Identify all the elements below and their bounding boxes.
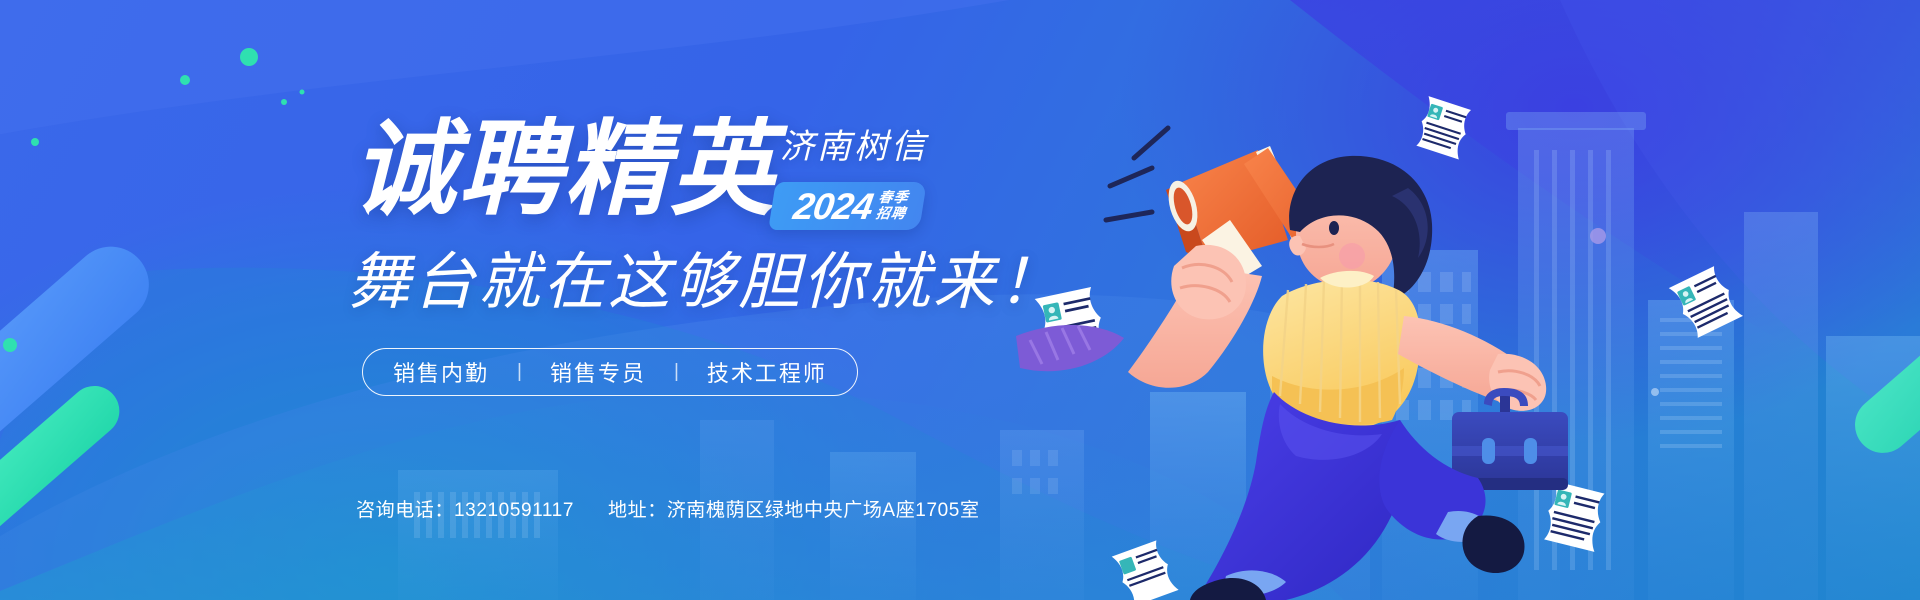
page-subtitle: 舞台就在这够胆你就来！ — [348, 252, 1063, 314]
job-positions-pill[interactable]: 销售内勤 | 销售专员 | 技术工程师 — [362, 348, 858, 396]
separator-2: | — [646, 361, 707, 383]
badge-year: 2024 — [791, 188, 875, 225]
recruitment-banner: 诚聘精英 济南树信 2024 春季 招聘 舞台就在这够胆你就来！ 销售内勤 | … — [0, 0, 1920, 600]
recruitment-season-badge: 2024 春季 招聘 — [768, 182, 927, 230]
contact-address: 地址：济南槐荫区绿地中央广场A座1705室 — [608, 495, 980, 522]
contact-phone: 咨询电话：13210591117 — [356, 495, 574, 522]
job-position-1[interactable]: 销售内勤 — [393, 356, 489, 388]
job-position-3[interactable]: 技术工程师 — [707, 356, 827, 388]
fist — [1171, 245, 1246, 320]
badge-line-2: 招聘 — [875, 206, 907, 221]
contact-info: 咨询电话：13210591117 地址：济南槐荫区绿地中央广场A座1705室 — [356, 495, 980, 522]
copy-block: 诚聘精英 济南树信 2024 春季 招聘 舞台就在这够胆你就来！ 销售内勤 | … — [0, 0, 1100, 600]
cheek — [1339, 243, 1365, 269]
badge-subtext: 春季 招聘 — [875, 190, 910, 221]
page-title: 诚聘精英 — [352, 118, 776, 222]
job-position-2[interactable]: 销售专员 — [550, 356, 646, 388]
separator-1: | — [489, 361, 550, 383]
company-name: 济南树信 — [780, 130, 928, 164]
eye — [1329, 221, 1339, 235]
badge-line-1: 春季 — [877, 190, 909, 205]
megaphone-sound-lines — [1106, 128, 1168, 220]
